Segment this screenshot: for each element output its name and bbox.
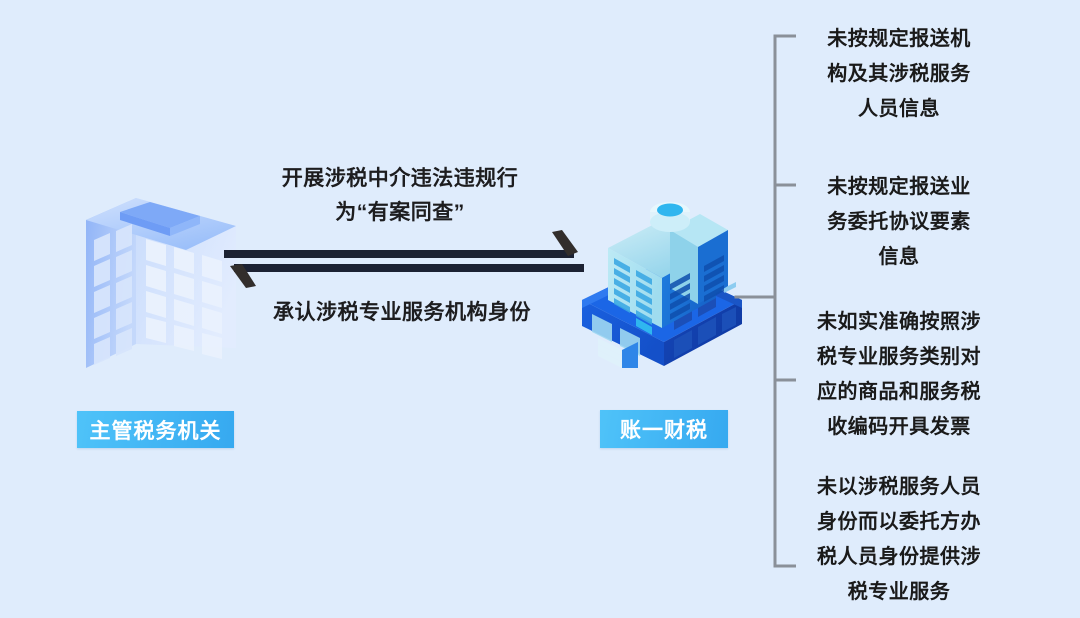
bullet-line: 身份而以委托方办 [795, 505, 1003, 540]
left-entity-label: 主管税务机关 [90, 415, 222, 445]
forward-arrow-label-line2: 为“有案同查” [222, 196, 578, 230]
bidirectional-arrow-icon [220, 228, 588, 290]
forward-arrow-label-line1: 开展涉税中介违法违规行 [222, 162, 578, 196]
bullet-line: 未以涉税服务人员 [795, 470, 1003, 505]
bullet-line: 务委托协议要素 [795, 205, 1003, 240]
list-item: 未以涉税服务人员 身份而以委托方办 税人员身份提供涉 税专业服务 [795, 470, 1003, 610]
bullet-line: 构及其涉税服务 [795, 57, 1003, 92]
list-item: 未如实准确按照涉 税专业服务类别对 应的商品和服务税 收编码开具发票 [795, 305, 1003, 445]
diagram-canvas: 开展涉税中介违法违规行 为“有案同查” 承认涉税专业服务机构身份 [0, 0, 1080, 618]
right-entity-label: 账一财税 [620, 414, 708, 444]
bullet-line: 未按规定报送机 [795, 22, 1003, 57]
backward-arrow-label: 承认涉税专业服务机构身份 [230, 296, 574, 326]
bullet-line: 收编码开具发票 [795, 410, 1003, 445]
bullet-line: 信息 [795, 240, 1003, 275]
list-item: 未按规定报送机 构及其涉税服务 人员信息 [795, 22, 1003, 127]
list-item: 未按规定报送业 务委托协议要素 信息 [795, 170, 1003, 275]
bullet-line: 税专业服务类别对 [795, 340, 1003, 375]
bullet-line: 税人员身份提供涉 [795, 540, 1003, 575]
forward-arrow-label: 开展涉税中介违法违规行 为“有案同查” [222, 162, 578, 230]
bullet-line: 税专业服务 [795, 575, 1003, 610]
left-entity-badge[interactable]: 主管税务机关 [77, 411, 234, 448]
bullet-line: 人员信息 [795, 92, 1003, 127]
bullet-line: 未如实准确按照涉 [795, 305, 1003, 340]
bullet-line: 未按规定报送业 [795, 170, 1003, 205]
bracket-connector [716, 20, 796, 600]
bullet-line: 应的商品和服务税 [795, 375, 1003, 410]
right-entity-badge[interactable]: 账一财税 [600, 410, 728, 448]
